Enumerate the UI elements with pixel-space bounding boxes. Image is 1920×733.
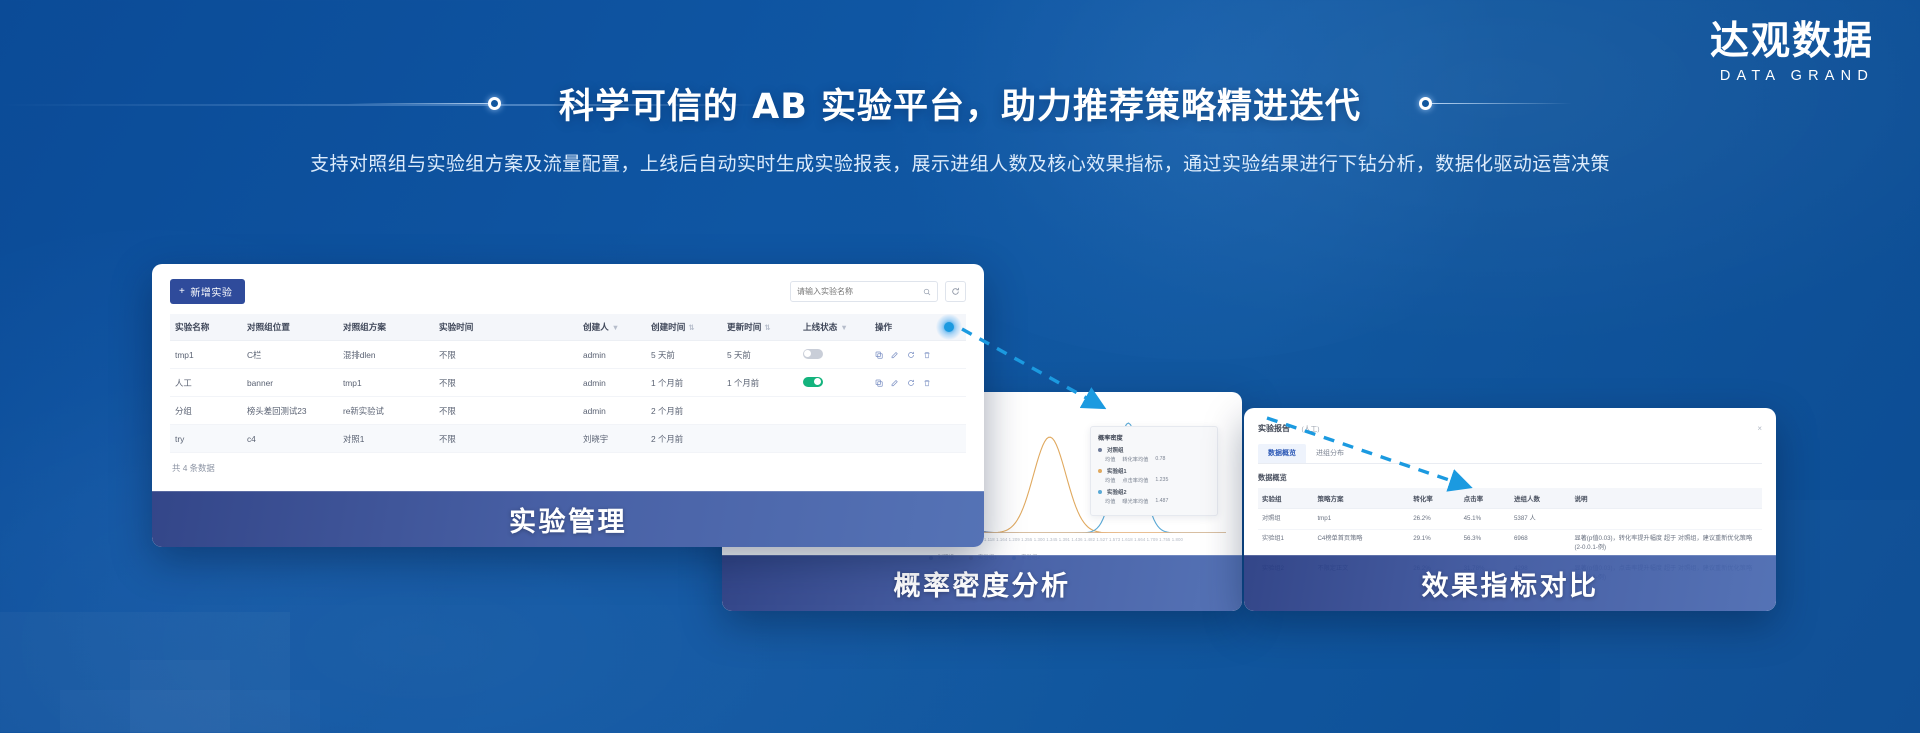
online-toggle[interactable] — [803, 377, 823, 387]
col-position: 对照组位置 — [242, 314, 338, 341]
col-online[interactable]: 上线状态▼ — [798, 314, 870, 341]
modal-title-wrap: 实验报告 (人工) — [1258, 418, 1320, 436]
tooltip-value: 0.78 — [1155, 456, 1165, 463]
metrics-modal-body: 实验报告 (人工) × 数据概览 进组分布 数据概览 实验组 策略方案 转化率 … — [1244, 408, 1776, 555]
col-cvr: 转化率 — [1409, 488, 1459, 509]
screenshot-experiment-list: + 新增实验 — [152, 264, 984, 547]
new-experiment-button[interactable]: + 新增实验 — [170, 279, 245, 304]
tooltip-group: 实验组1 均值点击率均值1.235 — [1098, 467, 1210, 484]
cell-online — [798, 397, 870, 425]
filter-icon: ▼ — [612, 323, 619, 332]
tooltip-group: 对照组 均值转化率均值0.78 — [1098, 446, 1210, 463]
cell-creator: 刘晓宇 — [578, 425, 646, 453]
cell-creator: admin — [578, 369, 646, 397]
click-hotspot[interactable] — [936, 314, 962, 340]
tooltip-value: 1.235 — [1155, 477, 1168, 484]
cell-time: 不限 — [434, 341, 578, 369]
panel-metrics-comparison: 实验报告 (人工) × 数据概览 进组分布 数据概览 实验组 策略方案 转化率 … — [1244, 408, 1776, 611]
cell-users: 5387 人 — [1510, 509, 1570, 530]
tab-group-distribution[interactable]: 进组分布 — [1306, 444, 1354, 463]
cell-actions — [870, 425, 966, 453]
cell-created: 2 个月前 — [646, 425, 722, 453]
background-square-2 — [130, 660, 230, 733]
cell-created: 5 天前 — [646, 341, 722, 369]
col-updated[interactable]: 更新时间⇅ — [722, 314, 798, 341]
brand-logo: 达观数据 DATA GRAND — [1710, 22, 1874, 84]
tooltip-group-name: 实验组2 — [1107, 488, 1127, 496]
table-row: 对照组 tmp1 26.2% 45.1% 5387 人 — [1258, 509, 1762, 530]
cell-position: C栏 — [242, 341, 338, 369]
background-square-3 — [60, 690, 320, 733]
experiment-list-toolbar: + 新增实验 — [170, 278, 966, 305]
section-title: 数据概览 — [1258, 473, 1762, 483]
table-row[interactable]: tmp1 C栏 混排dlen 不限 admin 5 天前 5 天前 — [170, 341, 966, 369]
headline-rule-right — [1432, 103, 1572, 104]
copy-icon[interactable] — [875, 379, 883, 387]
experiment-table: 实验名称 对照组位置 对照组方案 实验时间 创建人▼ 创建时间⇅ 更新时间⇅ 上… — [170, 314, 966, 453]
cell-position: c4 — [242, 425, 338, 453]
copy-icon[interactable] — [875, 351, 883, 359]
cell-actions — [870, 341, 966, 369]
col-time: 实验时间 — [434, 314, 578, 341]
modal-header: 实验报告 (人工) × — [1258, 418, 1762, 436]
tooltip-label: 均值 — [1105, 477, 1115, 484]
col-plan: 策略方案 — [1313, 488, 1409, 509]
tooltip-label: 均值 — [1105, 498, 1115, 505]
cell-plan: 混排dlen — [338, 341, 434, 369]
refresh-button[interactable] — [945, 281, 966, 302]
plus-icon: + — [179, 287, 185, 297]
tooltip-metric: 转化率均值 — [1122, 456, 1148, 463]
page-title: 科学可信的 AB 实验平台，助力推荐策略精进迭代 — [501, 78, 1419, 129]
col-name: 实验名称 — [170, 314, 242, 341]
cell-online — [798, 425, 870, 453]
headline-dot-right — [1419, 97, 1432, 110]
close-icon[interactable]: × — [1757, 424, 1762, 433]
col-creator[interactable]: 创建人▼ — [578, 314, 646, 341]
brand-name-cn: 达观数据 — [1710, 22, 1874, 63]
col-group: 实验组 — [1258, 488, 1313, 509]
background-square-1 — [0, 612, 290, 732]
cell-updated — [722, 425, 798, 453]
cell-plan: tmp1 — [338, 369, 434, 397]
cell-time: 不限 — [434, 369, 578, 397]
cell-creator: admin — [578, 397, 646, 425]
tooltip-group: 实验组2 均值曝光率均值1.487 — [1098, 488, 1210, 505]
col-users: 进组人数 — [1510, 488, 1570, 509]
search-input[interactable] — [797, 287, 923, 296]
cell-created: 2 个月前 — [646, 397, 722, 425]
edit-icon[interactable] — [891, 351, 899, 359]
cell-name: tmp1 — [170, 341, 242, 369]
col-created[interactable]: 创建时间⇅ — [646, 314, 722, 341]
tooltip-title: 概率密度 — [1098, 433, 1210, 442]
sort-icon: ⇅ — [764, 323, 770, 332]
cell-online[interactable] — [798, 341, 870, 369]
metrics-table-header-row: 实验组 策略方案 转化率 点击率 进组人数 说明 — [1258, 488, 1762, 509]
cell-time: 不限 — [434, 425, 578, 453]
sort-icon: ⇅ — [688, 323, 694, 332]
cell-actions — [870, 369, 966, 397]
headline-dot-left — [488, 97, 501, 110]
caption-experiment-list: 实验管理 — [152, 491, 984, 547]
delete-icon[interactable] — [923, 351, 931, 359]
cell-updated: 1 个月前 — [722, 369, 798, 397]
experiment-list-body: + 新增实验 — [152, 264, 984, 491]
cell-name: 分组 — [170, 397, 242, 425]
cell-cvr: 26.2% — [1409, 509, 1459, 530]
series-dot — [1098, 469, 1102, 473]
cell-actions — [870, 397, 966, 425]
caption-metrics-comparison: 效果指标对比 — [1244, 555, 1776, 611]
cell-updated: 5 天前 — [722, 341, 798, 369]
tooltip-group-name: 对照组 — [1107, 446, 1124, 454]
tooltip-metric: 曝光率均值 — [1122, 498, 1148, 505]
tab-data-overview[interactable]: 数据概览 — [1258, 444, 1306, 463]
headline-rule-left — [348, 103, 488, 104]
screenshot-metrics-modal: 实验报告 (人工) × 数据概览 进组分布 数据概览 实验组 策略方案 转化率 … — [1244, 408, 1776, 611]
cell-name: 人工 — [170, 369, 242, 397]
report-icon[interactable] — [907, 351, 915, 359]
cell-ctr: 45.1% — [1460, 509, 1510, 530]
tooltip-value: 1.487 — [1155, 498, 1168, 505]
cell-created: 1 个月前 — [646, 369, 722, 397]
cell-plan: re新实验试 — [338, 397, 434, 425]
cell-plan: tmp1 — [1313, 509, 1409, 530]
delete-icon[interactable] — [923, 379, 931, 387]
modal-tabs: 数据概览 进组分布 — [1258, 444, 1762, 464]
edit-icon[interactable] — [891, 379, 899, 387]
page-subtitle: 支持对照组与实验组方案及流量配置，上线后自动实时生成实验报表，展示进组人数及核心… — [250, 148, 1670, 181]
experiment-list-tools-right — [790, 281, 966, 302]
cell-plan: 对照1 — [338, 425, 434, 453]
headline-row: 科学可信的 AB 实验平台，助力推荐策略精进迭代 — [0, 78, 1920, 129]
table-row[interactable]: 分组 榜头差回测试23 re新实验试 不限 admin 2 个月前 — [170, 397, 966, 425]
table-row[interactable]: 人工 banner tmp1 不限 admin 1 个月前 1 个月前 — [170, 369, 966, 397]
cell-group: 对照组 — [1258, 509, 1313, 530]
table-row[interactable]: try c4 对照1 不限 刘晓宇 2 个月前 — [170, 425, 966, 453]
cell-online[interactable] — [798, 369, 870, 397]
cell-note — [1570, 509, 1762, 530]
search-box[interactable] — [790, 281, 938, 302]
tooltip-group-name: 实验组1 — [1107, 467, 1127, 475]
report-icon[interactable] — [907, 379, 915, 387]
series-dot — [1098, 490, 1102, 494]
refresh-icon — [951, 287, 960, 296]
cell-name: try — [170, 425, 242, 453]
online-toggle[interactable] — [803, 349, 823, 359]
col-plan: 对照组方案 — [338, 314, 434, 341]
tooltip-metric: 点击率均值 — [1122, 477, 1148, 484]
filter-icon: ▼ — [840, 323, 847, 332]
chart-tooltip: 概率密度 对照组 均值转化率均值0.78 实验组1 均值点击率均值1.235 实… — [1090, 426, 1218, 516]
caption-density-analysis: 概率密度分析 — [722, 555, 1242, 611]
search-icon — [923, 288, 931, 296]
experiment-table-header-row: 实验名称 对照组位置 对照组方案 实验时间 创建人▼ 创建时间⇅ 更新时间⇅ 上… — [170, 314, 966, 341]
cell-updated — [722, 397, 798, 425]
tooltip-label: 均值 — [1105, 456, 1115, 463]
series-dot — [1098, 448, 1102, 452]
panel-experiment-list: + 新增实验 — [152, 264, 984, 547]
col-note: 说明 — [1570, 488, 1762, 509]
new-experiment-label: 新增实验 — [190, 284, 232, 299]
record-count: 共 4 条数据 — [170, 453, 966, 474]
cell-position: 榜头差回测试23 — [242, 397, 338, 425]
col-ctr: 点击率 — [1460, 488, 1510, 509]
modal-subtitle: (人工) — [1301, 426, 1319, 433]
cell-time: 不限 — [434, 397, 578, 425]
cell-creator: admin — [578, 341, 646, 369]
cell-position: banner — [242, 369, 338, 397]
modal-title: 实验报告 — [1258, 424, 1290, 433]
